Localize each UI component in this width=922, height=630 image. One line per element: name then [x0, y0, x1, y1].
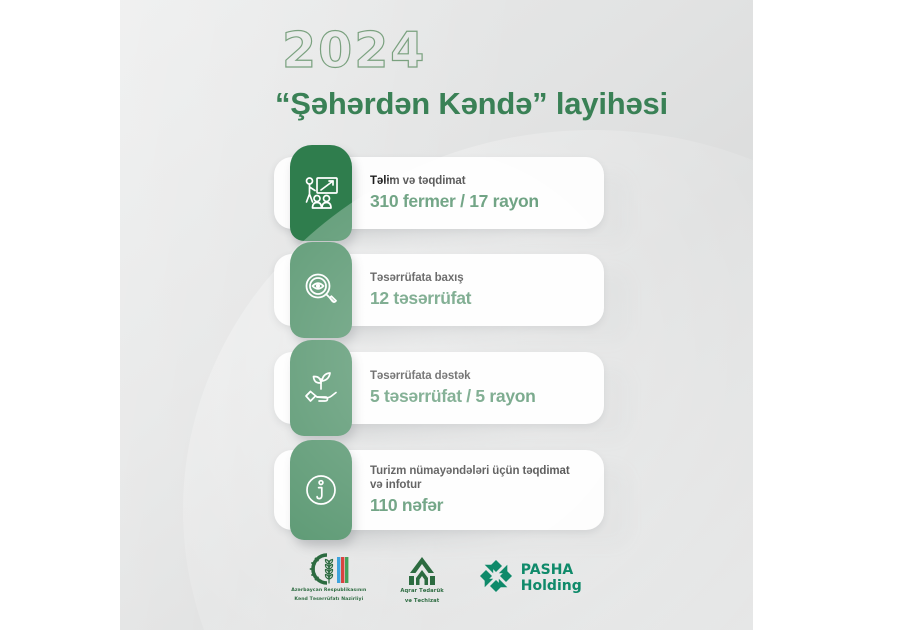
- pasha-name: PASHA Holding: [521, 563, 582, 594]
- poster-canvas: 2024 “Şəhərdən Kəndə” layihəsi: [0, 0, 922, 630]
- card-value: 110 nəfər: [370, 495, 575, 516]
- aqrar-tedaruk-logo: Aqrar Tədarük və Təchizat: [400, 556, 443, 606]
- pasha-pinwheel-icon: [478, 558, 514, 599]
- stat-card-tourism[interactable]: Turizm nümayəndələri üçün təqdimat və in…: [274, 450, 604, 530]
- ministry-caption-line2: Kənd Təsərrüfatı Nazirliyi: [291, 597, 366, 604]
- card-label: Turizm nümayəndələri üçün təqdimat və in…: [370, 464, 575, 493]
- card-text: Təlim və təqdimat 310 fermer / 17 rayon: [370, 157, 539, 229]
- wheat-gear-flag-icon: [291, 552, 366, 586]
- ministry-caption-line1: Azərbaycan Respublikasının: [291, 588, 366, 595]
- page-title: “Şəhərdən Kəndə” layihəsi: [275, 86, 668, 122]
- card-label: Təsərrüfata baxış: [370, 271, 471, 286]
- stat-card-farm-visit[interactable]: Təsərrüfata baxış 12 təsərrüfat: [274, 254, 604, 326]
- card-label: Təsərrüfata dəstək: [370, 369, 536, 384]
- card-text: Təsərrüfata baxış 12 təsərrüfat: [370, 254, 471, 326]
- stat-card-training[interactable]: Təlim və təqdimat 310 fermer / 17 rayon: [274, 157, 604, 229]
- pasha-name-line2: Holding: [521, 579, 582, 595]
- card-value: 5 təsərrüfat / 5 rayon: [370, 386, 536, 407]
- card-text: Turizm nümayəndələri üçün təqdimat və in…: [370, 450, 575, 530]
- aqrar-a-icon: [400, 556, 443, 586]
- stat-card-farm-support[interactable]: Təsərrüfata dəstək 5 təsərrüfat / 5 rayo…: [274, 352, 604, 424]
- card-value: 12 təsərrüfat: [370, 288, 471, 309]
- pasha-holding-logo: PASHA Holding: [478, 558, 582, 599]
- hand-sprout-icon: [290, 340, 352, 436]
- info-circle-icon: [290, 440, 352, 540]
- aqrar-caption-line1: Aqrar Tədarük: [400, 588, 443, 596]
- ministry-of-agriculture-logo: Azərbaycan Respublikasının Kənd Təsərrüf…: [291, 552, 366, 604]
- presentation-training-icon: [290, 145, 352, 241]
- card-text: Təsərrüfata dəstək 5 təsərrüfat / 5 rayo…: [370, 352, 536, 424]
- footer-logos: Azərbaycan Respublikasının Kənd Təsərrüf…: [120, 552, 753, 614]
- pasha-name-line1: PASHA: [521, 563, 582, 579]
- year-outline-text: 2024: [282, 26, 426, 75]
- card-value: 310 fermer / 17 rayon: [370, 191, 539, 212]
- magnifier-eye-icon: [290, 242, 352, 338]
- card-label: Təlim və təqdimat: [370, 174, 539, 189]
- poster-panel: 2024 “Şəhərdən Kəndə” layihəsi: [120, 0, 753, 630]
- aqrar-caption-line2: və Təchizat: [400, 598, 443, 606]
